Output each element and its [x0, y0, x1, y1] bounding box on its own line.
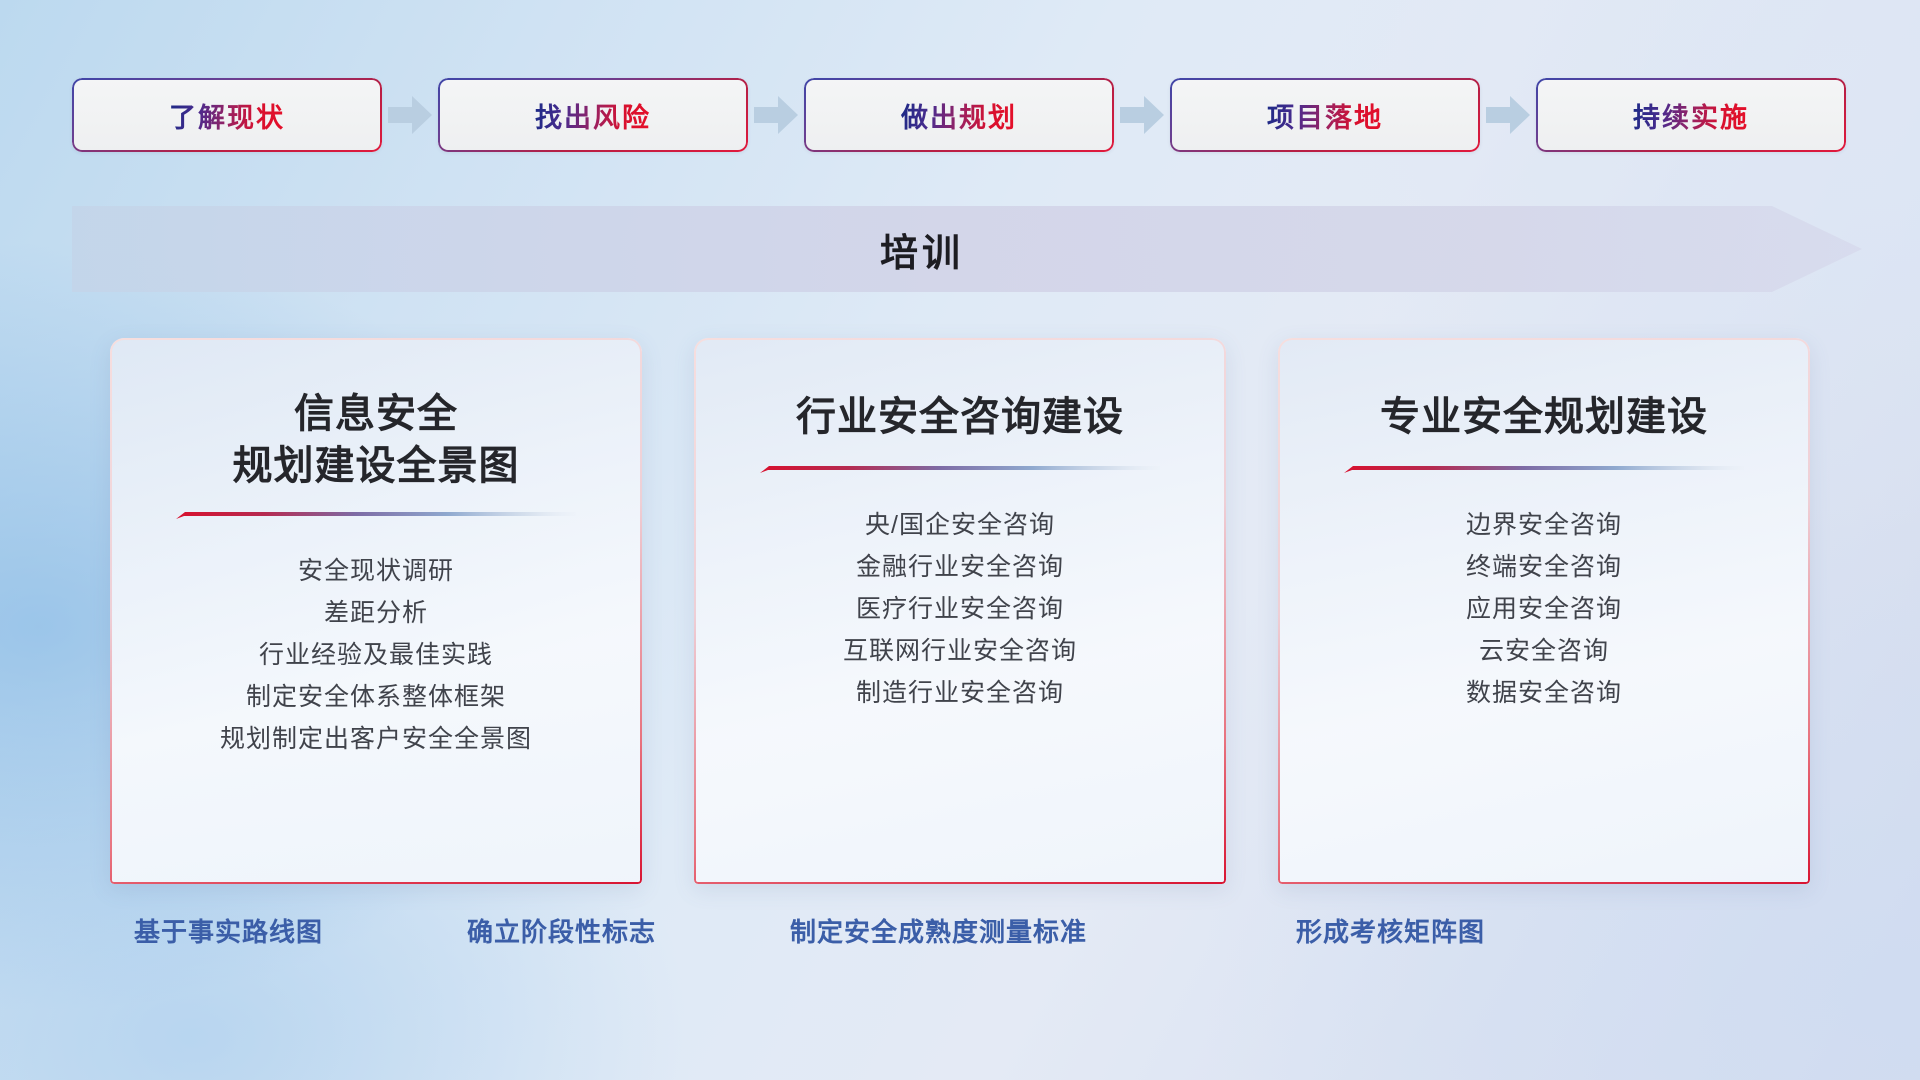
card-title: 行业安全咨询建设	[694, 338, 1226, 446]
card-list-item: 安全现状调研	[134, 550, 618, 592]
step-label: 做出规划	[901, 96, 1017, 135]
process-step-row: 了解现状 找出风险 做出规划 项目落地	[72, 78, 1852, 152]
step-button-2[interactable]: 找出风险	[438, 78, 748, 152]
card-item-list: 安全现状调研 差距分析 行业经验及最佳实践 制定安全体系整体框架 规划制定出客户…	[110, 550, 642, 760]
card-list-item: 央/国企安全咨询	[718, 504, 1202, 546]
card-information-security[interactable]: 信息安全 规划建设全景图	[110, 338, 642, 884]
card-list-item: 规划制定出客户安全全景图	[134, 718, 618, 760]
step-label: 持续实施	[1633, 96, 1749, 135]
card-list-item: 数据安全咨询	[1302, 672, 1786, 714]
step-button-4[interactable]: 项目落地	[1170, 78, 1480, 152]
slide-canvas: 了解现状 找出风险 做出规划 项目落地	[0, 0, 1920, 1080]
banner-title: 培训	[72, 206, 1772, 292]
step-button-3[interactable]: 做出规划	[804, 78, 1114, 152]
step-button-5[interactable]: 持续实施	[1536, 78, 1846, 152]
card-row: 信息安全 规划建设全景图	[110, 338, 1810, 884]
card-list-item: 医疗行业安全咨询	[718, 588, 1202, 630]
arrow-right-icon	[1480, 78, 1536, 152]
card-title-line: 信息安全	[144, 388, 608, 440]
card-title-line: 规划建设全景图	[144, 440, 608, 492]
gradient-divider-icon	[1344, 464, 1744, 478]
card-list-item: 终端安全咨询	[1302, 546, 1786, 588]
card-list-item: 金融行业安全咨询	[718, 546, 1202, 588]
card-industry-security-consulting[interactable]: 行业安全咨询建设	[694, 338, 1226, 884]
card-list-item: 云安全咨询	[1302, 630, 1786, 672]
step-button-1[interactable]: 了解现状	[72, 78, 382, 152]
card-list-item: 差距分析	[134, 592, 618, 634]
arrow-right-icon	[1114, 78, 1170, 152]
card-title: 信息安全 规划建设全景图	[110, 338, 642, 492]
card-list-item: 制造行业安全咨询	[718, 672, 1202, 714]
footer-label: 基于事实路线图	[134, 912, 323, 949]
footer-label: 确立阶段性标志	[467, 912, 656, 949]
arrow-right-icon	[748, 78, 804, 152]
gradient-divider-icon	[176, 510, 576, 524]
card-title-line: 专业安全规划建设	[1312, 391, 1776, 443]
card-item-list: 央/国企安全咨询 金融行业安全咨询 医疗行业安全咨询 互联网行业安全咨询 制造行…	[694, 504, 1226, 714]
card-title: 专业安全规划建设	[1278, 338, 1810, 446]
footer-label: 形成考核矩阵图	[1296, 912, 1485, 949]
card-list-item: 应用安全咨询	[1302, 588, 1786, 630]
footer-label: 制定安全成熟度测量标准	[790, 912, 1087, 949]
arrow-right-icon	[382, 78, 438, 152]
card-title-line: 行业安全咨询建设	[728, 391, 1192, 443]
gradient-divider-icon	[760, 464, 1160, 478]
card-list-item: 制定安全体系整体框架	[134, 676, 618, 718]
card-item-list: 边界安全咨询 终端安全咨询 应用安全咨询 云安全咨询 数据安全咨询	[1278, 504, 1810, 714]
card-professional-security-planning[interactable]: 专业安全规划建设	[1278, 338, 1810, 884]
step-label: 项目落地	[1267, 96, 1383, 135]
step-label: 了解现状	[169, 96, 285, 135]
footer-label-row: 基于事实路线图 确立阶段性标志 制定安全成熟度测量标准 形成考核矩阵图	[0, 912, 1920, 964]
step-label: 找出风险	[535, 96, 651, 135]
card-list-item: 边界安全咨询	[1302, 504, 1786, 546]
card-list-item: 行业经验及最佳实践	[134, 634, 618, 676]
training-banner: 培训	[72, 206, 1862, 292]
card-list-item: 互联网行业安全咨询	[718, 630, 1202, 672]
